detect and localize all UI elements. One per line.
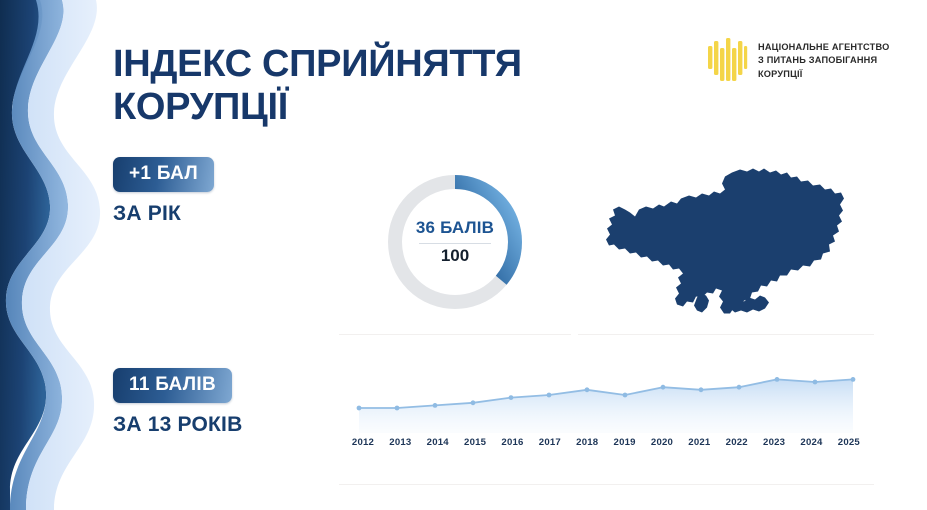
trend-data-point[interactable] (471, 400, 476, 405)
donut-divider (419, 243, 491, 244)
x-axis-tick: 2012 (345, 437, 381, 448)
x-axis-tick: 2024 (794, 437, 830, 448)
score-donut-chart: 36 БАЛІВ 100 (382, 169, 528, 315)
map-card (578, 150, 874, 335)
x-axis-tick: 2017 (532, 437, 568, 448)
stat-per-period: 11 БАЛІВ ЗА 13 РОКІВ (113, 368, 242, 437)
x-axis-tick: 2021 (681, 437, 717, 448)
x-axis-tick: 2025 (831, 437, 867, 448)
donut-card: 36 БАЛІВ 100 (339, 150, 571, 335)
x-axis-tick-labels: 2012201320142015201620172018201920202021… (345, 437, 867, 448)
trend-data-point[interactable] (395, 406, 400, 411)
logo-text: НАЦІОНАЛЬНЕ АГЕНТСТВО З ПИТАНЬ ЗАПОБІГАН… (758, 41, 889, 80)
infographic-slide: НАЦІОНАЛЬНЕ АГЕНТСТВО З ПИТАНЬ ЗАПОБІГАН… (0, 0, 927, 510)
donut-value: 36 БАЛІВ (416, 219, 494, 242)
x-axis-tick: 2020 (644, 437, 680, 448)
trend-data-point[interactable] (775, 377, 780, 382)
stat-per-year: +1 БАЛ ЗА РІК (113, 157, 214, 226)
x-axis-tick: 2016 (495, 437, 531, 448)
nazk-logo: НАЦІОНАЛЬНЕ АГЕНТСТВО З ПИТАНЬ ЗАПОБІГАН… (706, 38, 889, 84)
stat-badge-per-period: 11 БАЛІВ (113, 368, 232, 403)
trend-data-point[interactable] (813, 380, 818, 385)
x-axis-tick: 2014 (420, 437, 456, 448)
trend-data-point[interactable] (737, 385, 742, 390)
trend-data-point[interactable] (851, 377, 856, 382)
x-axis-tick: 2022 (719, 437, 755, 448)
ukraine-map-icon (601, 160, 851, 325)
donut-total: 100 (441, 247, 469, 266)
stat-caption-per-year: ЗА РІК (113, 202, 214, 226)
decorative-wave-graphic (0, 0, 130, 510)
stat-badge-per-year: +1 БАЛ (113, 157, 214, 192)
x-axis-tick: 2013 (382, 437, 418, 448)
trend-chart-card: 2012201320142015201620172018201920202021… (339, 345, 874, 485)
trend-line-chart (345, 361, 867, 433)
trend-data-point[interactable] (623, 393, 628, 398)
stat-caption-per-period: ЗА 13 РОКІВ (113, 413, 242, 437)
trend-data-point[interactable] (357, 406, 362, 411)
trend-data-point[interactable] (547, 393, 552, 398)
x-axis-tick: 2019 (607, 437, 643, 448)
donut-center-label: 36 БАЛІВ 100 (382, 169, 528, 315)
x-axis-tick: 2023 (756, 437, 792, 448)
x-axis-tick: 2018 (569, 437, 605, 448)
nazk-trident-bars-icon (706, 38, 748, 84)
trend-data-point[interactable] (661, 385, 666, 390)
page-title: ІНДЕКС СПРИЙНЯТТЯ КОРУПЦІЇ (113, 43, 583, 128)
x-axis-tick: 2015 (457, 437, 493, 448)
trend-data-point[interactable] (585, 387, 590, 392)
trend-data-point[interactable] (433, 403, 438, 408)
trend-data-point[interactable] (509, 395, 514, 400)
trend-data-point[interactable] (699, 387, 704, 392)
